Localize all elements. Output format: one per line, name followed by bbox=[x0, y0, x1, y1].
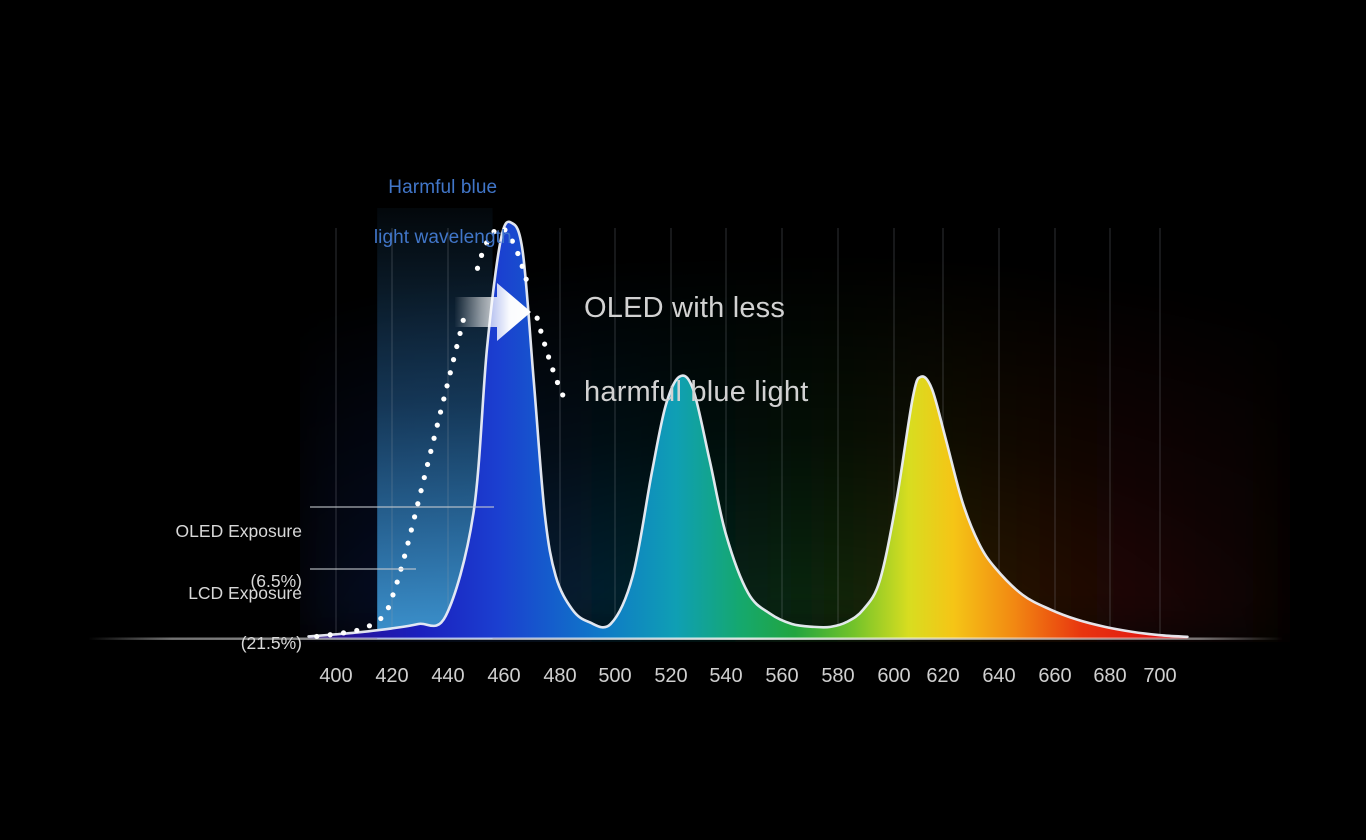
oled-callout-line1: OLED with less bbox=[584, 292, 785, 324]
lcd-curve-dot bbox=[431, 436, 436, 441]
lcd-curve-dot bbox=[454, 344, 459, 349]
lcd-curve-dot bbox=[328, 632, 333, 637]
lcd-curve-dot bbox=[542, 341, 547, 346]
lcd-curve-dot bbox=[444, 383, 449, 388]
x-tick-540: 540 bbox=[709, 661, 742, 691]
x-axis-tick-labels: 4004204404604805005205405605806006206406… bbox=[0, 661, 1366, 691]
lcd-curve-dot bbox=[457, 331, 462, 336]
lcd-exposure-title: LCD Exposure bbox=[188, 583, 302, 603]
lcd-curve-dot bbox=[412, 514, 417, 519]
harmful-blue-band-label: Harmful blue light wavelength bbox=[352, 150, 512, 275]
oled-exposure-title: OLED Exposure bbox=[176, 521, 302, 541]
lcd-curve-dot bbox=[341, 630, 346, 635]
lcd-curve-dot bbox=[409, 527, 414, 532]
lcd-curve-dot bbox=[390, 592, 395, 597]
lcd-curve-dot bbox=[524, 277, 529, 282]
lcd-curve-dot bbox=[415, 501, 420, 506]
x-tick-700: 700 bbox=[1143, 661, 1176, 691]
x-tick-560: 560 bbox=[765, 661, 798, 691]
lcd-curve-dot bbox=[535, 316, 540, 321]
lcd-curve-dot bbox=[354, 628, 359, 633]
lcd-curve-dot bbox=[378, 616, 383, 621]
x-tick-500: 500 bbox=[598, 661, 631, 691]
lcd-curve-dot bbox=[314, 634, 319, 639]
lcd-curve-dot bbox=[418, 488, 423, 493]
lcd-curve-dot bbox=[448, 370, 453, 375]
x-tick-600: 600 bbox=[877, 661, 910, 691]
lcd-curve-dot bbox=[441, 396, 446, 401]
lcd-curve-dot bbox=[386, 605, 391, 610]
lcd-curve-dot bbox=[405, 540, 410, 545]
lcd-curve-dot bbox=[438, 409, 443, 414]
lcd-curve-dot bbox=[425, 462, 430, 467]
lcd-curve-dot bbox=[402, 554, 407, 559]
lcd-curve-dot bbox=[367, 623, 372, 628]
lcd-curve-dot bbox=[538, 329, 543, 334]
lcd-curve-dot bbox=[451, 357, 456, 362]
x-tick-620: 620 bbox=[926, 661, 959, 691]
lcd-curve-dot bbox=[395, 579, 400, 584]
oled-callout-text: OLED with less harmful blue light bbox=[551, 245, 808, 455]
x-tick-480: 480 bbox=[543, 661, 576, 691]
lcd-curve-dot bbox=[422, 475, 427, 480]
lcd-curve-dot bbox=[520, 264, 525, 269]
oled-callout-line2: harmful blue light bbox=[584, 376, 808, 408]
x-tick-520: 520 bbox=[654, 661, 687, 691]
x-tick-440: 440 bbox=[431, 661, 464, 691]
x-tick-400: 400 bbox=[319, 661, 352, 691]
x-tick-460: 460 bbox=[487, 661, 520, 691]
lcd-curve-dot bbox=[515, 251, 520, 256]
x-tick-580: 580 bbox=[821, 661, 854, 691]
x-tick-660: 660 bbox=[1038, 661, 1071, 691]
spectrum-chart-figure: Harmful blue light wavelength OLED with … bbox=[0, 0, 1366, 840]
x-tick-640: 640 bbox=[982, 661, 1015, 691]
lcd-curve-dot bbox=[435, 423, 440, 428]
harmful-label-line2: light wavelength bbox=[374, 227, 512, 248]
lcd-exposure-value: (21.5%) bbox=[120, 631, 302, 656]
lcd-curve-dot bbox=[428, 449, 433, 454]
x-tick-420: 420 bbox=[375, 661, 408, 691]
harmful-label-line1: Harmful blue bbox=[388, 177, 497, 198]
x-tick-680: 680 bbox=[1093, 661, 1126, 691]
